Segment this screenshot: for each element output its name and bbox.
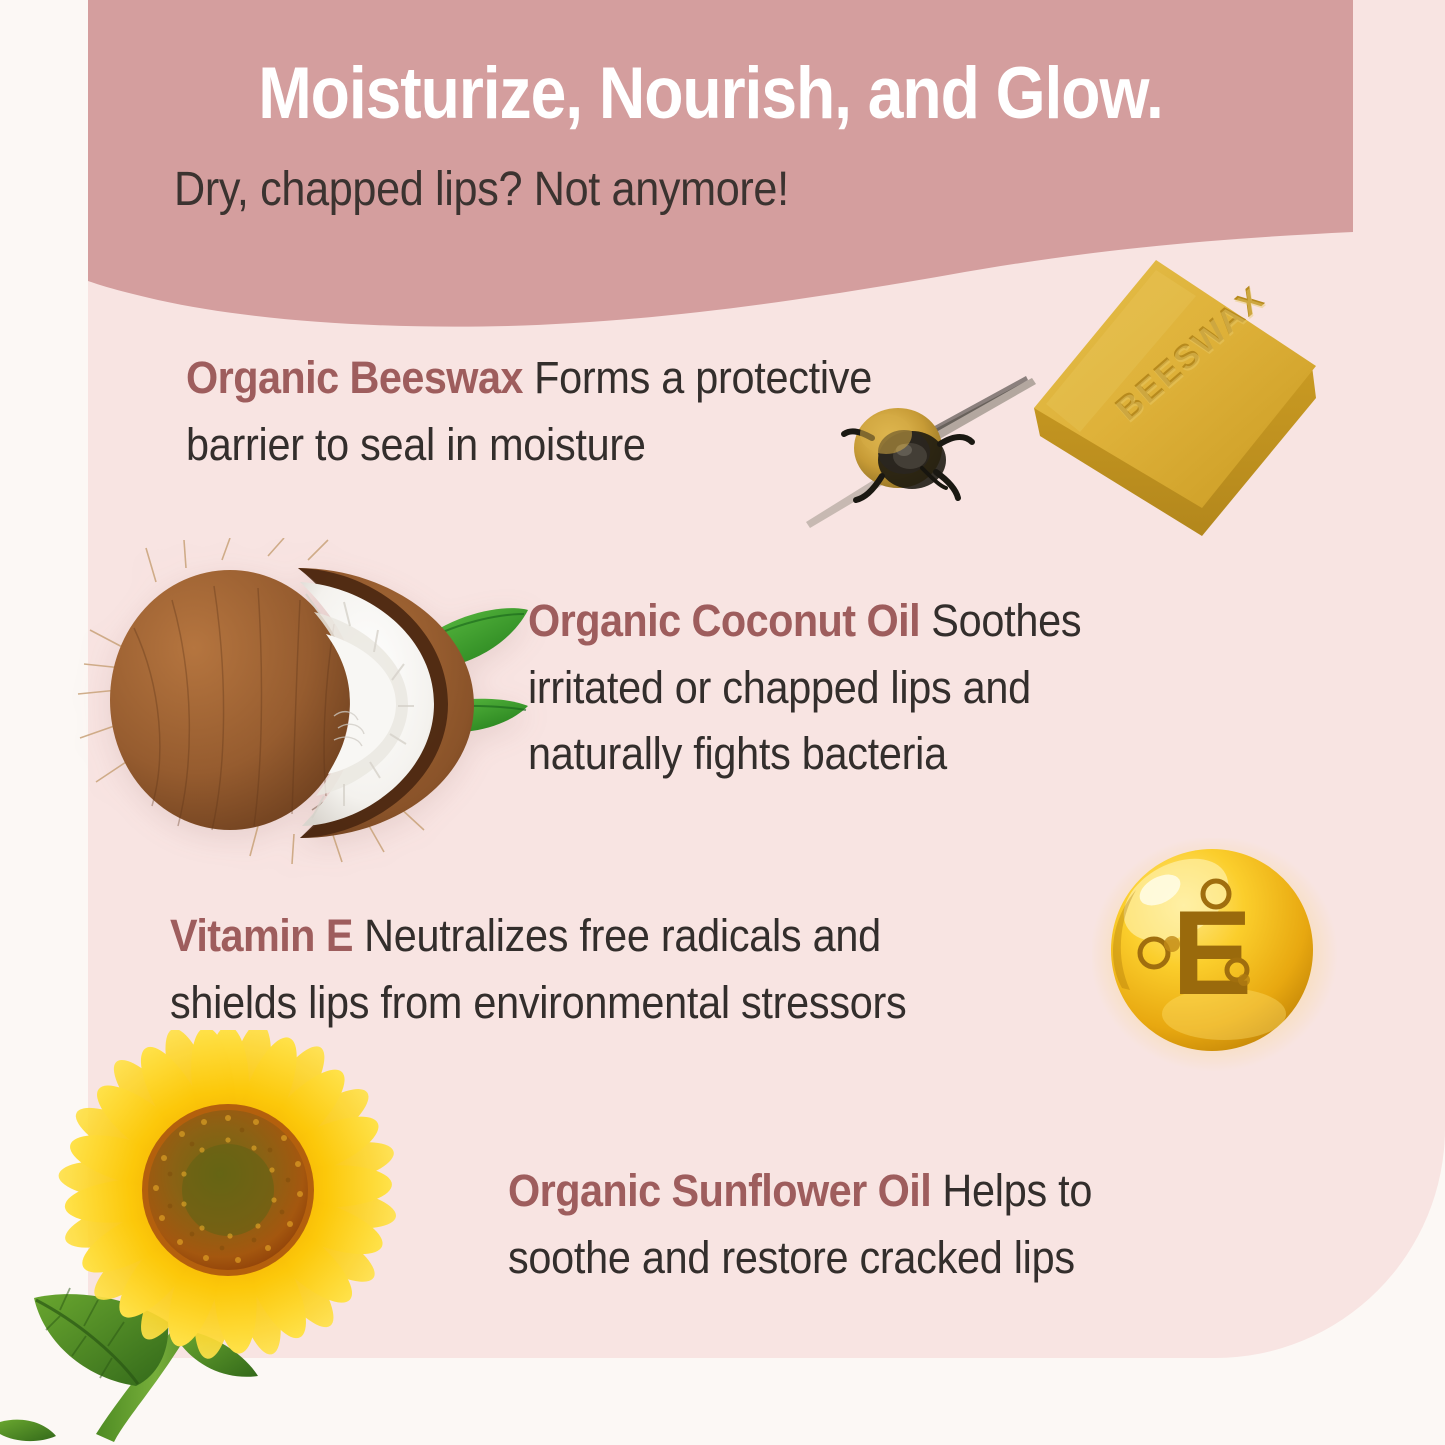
ingredient-vitamin-e: Vitamin E Neutralizes free radicals and …: [170, 903, 1090, 1036]
ingredient-beeswax: Organic Beeswax Forms a protective barri…: [186, 345, 1066, 478]
coconut-icon: [62, 538, 532, 868]
vitamin-e-capsule-icon: E: [1092, 838, 1342, 1073]
page-title: Moisturize, Nourish, and Glow.: [163, 56, 1259, 133]
page-subtitle: Dry, chapped lips? Not anymore!: [174, 162, 789, 217]
ingredient-name-coconut-oil: Organic Coconut Oil: [528, 595, 920, 646]
ingredient-sunflower-oil: Organic Sunflower Oil Helps to soothe an…: [508, 1158, 1248, 1291]
sunflower-icon: [0, 1030, 470, 1445]
ingredient-name-beeswax: Organic Beeswax: [186, 352, 523, 403]
infographic-canvas: Moisturize, Nourish, and Glow. Dry, chap…: [0, 0, 1445, 1445]
ingredient-name-vitamin-e: Vitamin E: [170, 910, 353, 961]
ingredient-coconut-oil: Organic Coconut Oil Soothes irritated or…: [528, 588, 1228, 788]
ingredient-name-sunflower-oil: Organic Sunflower Oil: [508, 1165, 931, 1216]
